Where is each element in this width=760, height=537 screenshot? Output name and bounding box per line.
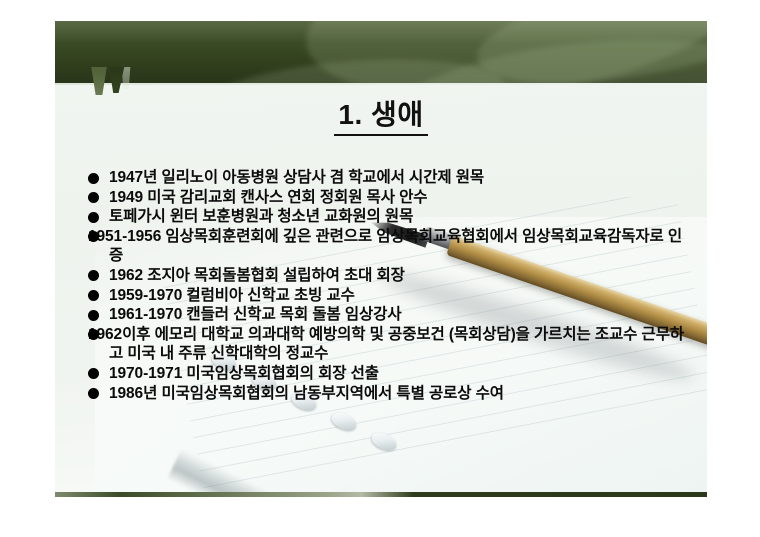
- header-droplet-notch: [85, 67, 147, 95]
- presentation-slide: 1. 생애 1947년 일리노이 아동병원 상담사 겸 학교에서 시간제 원목 …: [55, 21, 707, 497]
- page-title: 1. 생애: [55, 93, 707, 133]
- list-item: 1961-1970 캔들러 신학교 목회 돌봄 임상강사: [88, 305, 688, 325]
- bullet-dot-icon: [88, 212, 99, 223]
- list-item: 1947년 일리노이 아동병원 상담사 겸 학교에서 시간제 원목: [88, 168, 688, 188]
- slide-body-bullet-list: 1947년 일리노이 아동병원 상담사 겸 학교에서 시간제 원목 1949 미…: [88, 168, 688, 403]
- list-item-label: 1947년 일리노이 아동병원 상담사 겸 학교에서 시간제 원목: [88, 168, 688, 188]
- list-item: 토페가시 윈터 보훈병원과 청소년 교화원의 원목: [88, 207, 688, 227]
- slide-header-band: [55, 21, 707, 83]
- list-item-label: 1959-1970 컬럼비아 신학교 초빙 교수: [88, 286, 688, 306]
- notch-left-facet: [85, 67, 113, 95]
- list-item: 1959-1970 컬럼비아 신학교 초빙 교수: [88, 286, 688, 306]
- list-item: 1970-1971 미국임상목회협회의 회장 선출: [88, 364, 688, 384]
- page-title-text: 1. 생애: [334, 99, 427, 136]
- list-item: 1962 조지아 목회돌봄협회 설립하여 초대 회장: [88, 266, 688, 286]
- list-item-label: 1962 조지아 목회돌봄협회 설립하여 초대 회장: [88, 266, 688, 286]
- list-item-label: 1949 미국 감리교회 캔사스 연회 정회원 목사 안수: [88, 188, 688, 208]
- bullet-dot-icon: [88, 173, 99, 184]
- list-item: 1962이후 에모리 대학교 의과대학 예방의학 및 공중보건 (목회상담)을 …: [88, 325, 688, 364]
- header-gloss: [55, 21, 707, 43]
- bullet-dot-icon: [88, 290, 99, 301]
- list-item: 1951-1956 임상목회훈련회에 깊은 관련으로 임상목회교육협회에서 임상…: [88, 227, 688, 266]
- list-item: 1986년 미국임상목회협회의 남동부지역에서 특별 공로상 수여: [88, 384, 688, 404]
- bullet-dot-icon: [88, 310, 99, 321]
- list-item-label: 1986년 미국임상목회협회의 남동부지역에서 특별 공로상 수여: [88, 384, 688, 404]
- list-item-label: 1961-1970 캔들러 신학교 목회 돌봄 임상강사: [88, 305, 688, 325]
- header-bottom-edge: [55, 83, 707, 85]
- list-item-label: 토페가시 윈터 보훈병원과 청소년 교화원의 원목: [88, 207, 688, 227]
- list-item-label: 1951-1956 임상목회훈련회에 깊은 관련으로 임상목회교육협회에서 임상…: [88, 227, 688, 266]
- list-item: 1949 미국 감리교회 캔사스 연회 정회원 목사 안수: [88, 188, 688, 208]
- list-item-label: 1962이후 에모리 대학교 의과대학 예방의학 및 공중보건 (목회상담)을 …: [88, 325, 688, 364]
- slide-footer-rule: [55, 492, 707, 497]
- list-item-label: 1970-1971 미국임상목회협회의 회장 선출: [88, 364, 688, 384]
- bullet-dot-icon: [88, 388, 99, 399]
